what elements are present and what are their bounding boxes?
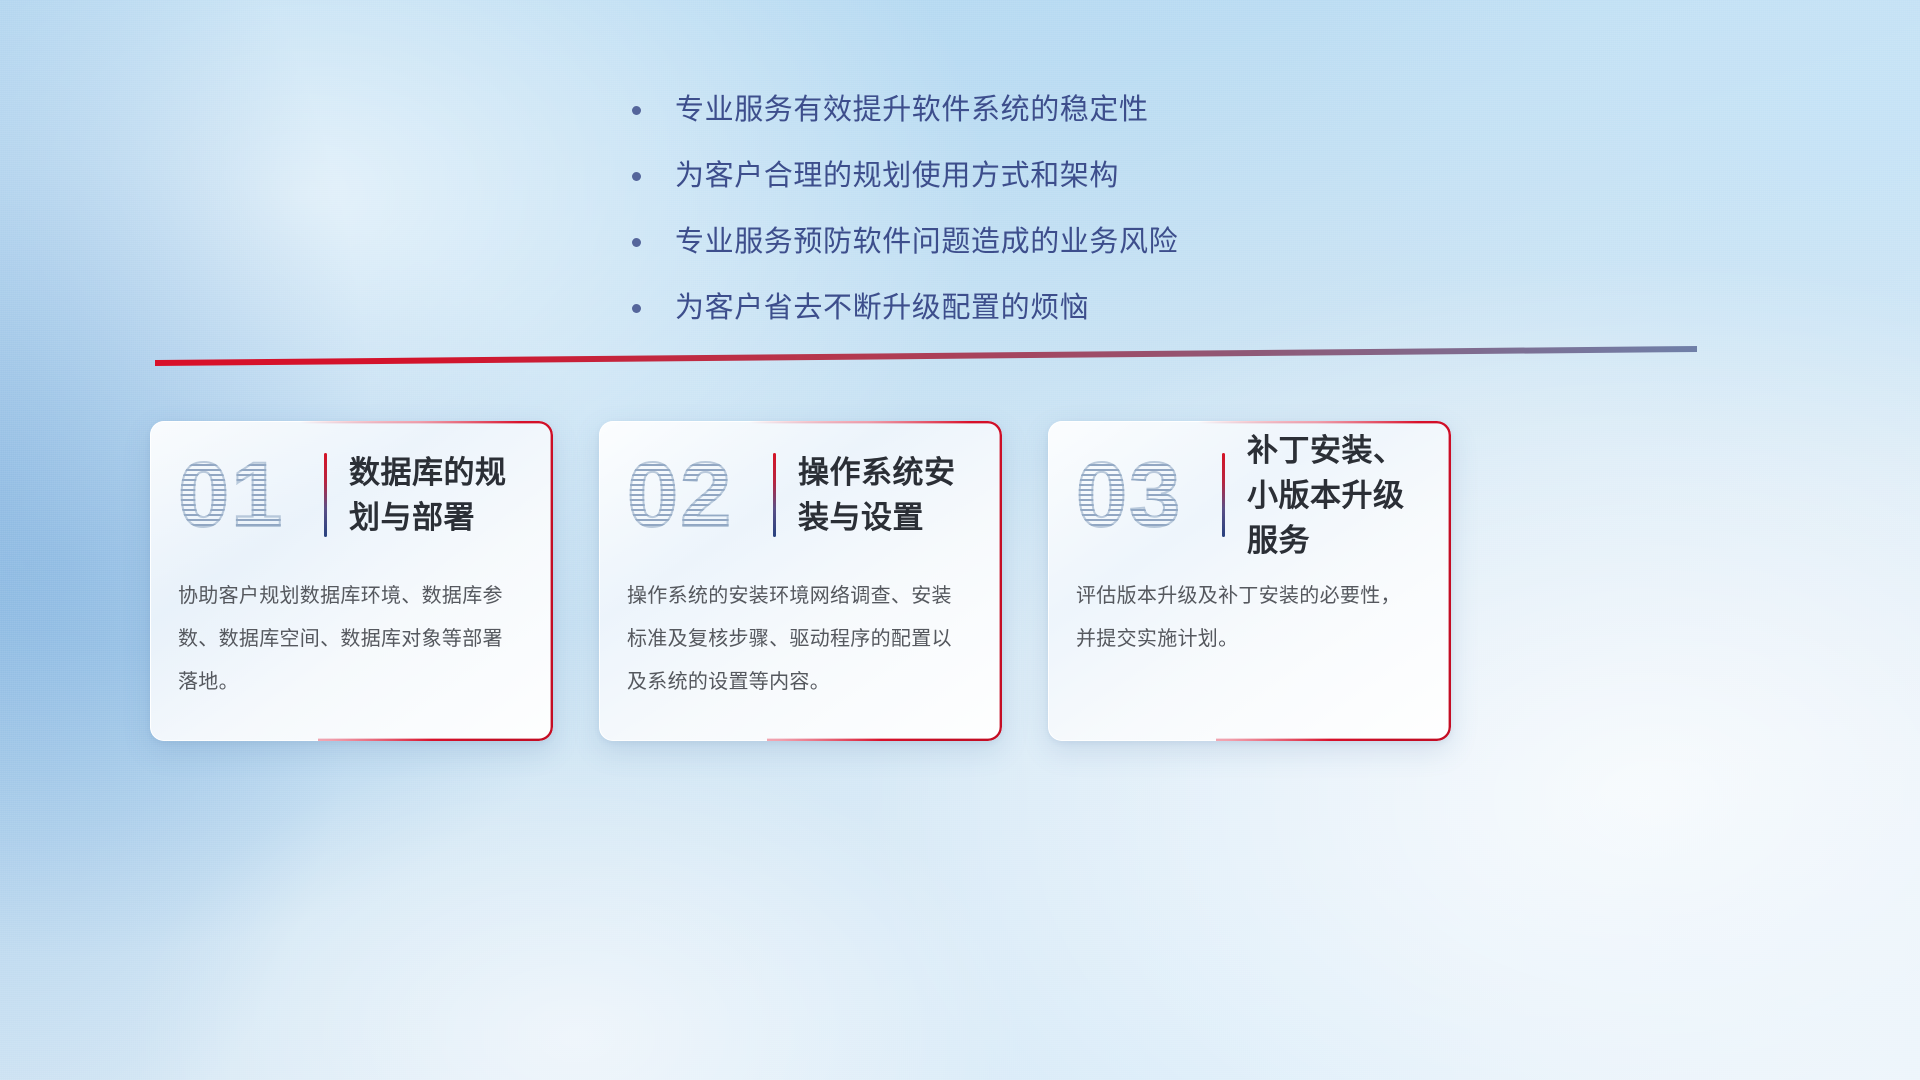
section-divider xyxy=(155,346,1697,368)
card-divider-bar xyxy=(773,453,776,537)
bullet-dot-icon xyxy=(632,238,641,247)
card-number-art: 01 xyxy=(178,445,310,545)
list-item: 专业服务预防软件问题造成的业务风险 xyxy=(620,216,1300,268)
card-header: 01 数据库的规划与部署 xyxy=(150,421,553,569)
service-card[interactable]: 03 补丁安装、小版本升级服务 评估版本升级及补丁安装的必要性，并提交实施计划。 xyxy=(1048,421,1451,741)
bullet-label: 专业服务预防软件问题造成的业务风险 xyxy=(675,216,1178,268)
list-item: 为客户省去不断升级配置的烦恼 xyxy=(620,282,1300,334)
card-number-art: 02 xyxy=(627,445,759,545)
card-divider-bar xyxy=(1222,453,1225,537)
card-number-glyph: 02 xyxy=(627,449,733,541)
card-description: 协助客户规划数据库环境、数据库参数、数据库空间、数据库对象等部署落地。 xyxy=(150,569,553,704)
card-number-art: 03 xyxy=(1076,445,1208,545)
list-item: 专业服务有效提升软件系统的稳定性 xyxy=(620,84,1300,136)
list-item: 为客户合理的规划使用方式和架构 xyxy=(620,150,1300,202)
bullet-dot-icon xyxy=(632,172,641,181)
bullet-dot-icon xyxy=(632,304,641,313)
card-description: 操作系统的安装环境网络调查、安装标准及复核步骤、驱动程序的配置以及系统的设置等内… xyxy=(599,569,1002,704)
card-title: 补丁安装、小版本升级服务 xyxy=(1247,428,1425,563)
card-number-glyph: 01 xyxy=(178,449,284,541)
card-title: 数据库的规划与部署 xyxy=(349,450,527,540)
bullet-label: 为客户合理的规划使用方式和架构 xyxy=(675,150,1119,202)
service-card-list: 01 数据库的规划与部署 协助客户规划数据库环境、数据库参数、数据库空间、数据库… xyxy=(150,421,1750,741)
card-title: 操作系统安装与设置 xyxy=(798,450,976,540)
card-header: 03 补丁安装、小版本升级服务 xyxy=(1048,421,1451,569)
bullet-label: 专业服务有效提升软件系统的稳定性 xyxy=(675,84,1149,136)
card-header: 02 操作系统安装与设置 xyxy=(599,421,1002,569)
benefits-bullet-list: 专业服务有效提升软件系统的稳定性 为客户合理的规划使用方式和架构 专业服务预防软… xyxy=(0,84,1920,334)
bullet-label: 为客户省去不断升级配置的烦恼 xyxy=(675,282,1089,334)
bullet-dot-icon xyxy=(632,106,641,115)
card-description: 评估版本升级及补丁安装的必要性，并提交实施计划。 xyxy=(1048,569,1451,661)
service-card[interactable]: 02 操作系统安装与设置 操作系统的安装环境网络调查、安装标准及复核步骤、驱动程… xyxy=(599,421,1002,741)
service-card[interactable]: 01 数据库的规划与部署 协助客户规划数据库环境、数据库参数、数据库空间、数据库… xyxy=(150,421,553,741)
card-number-glyph: 03 xyxy=(1076,449,1182,541)
card-divider-bar xyxy=(324,453,327,537)
